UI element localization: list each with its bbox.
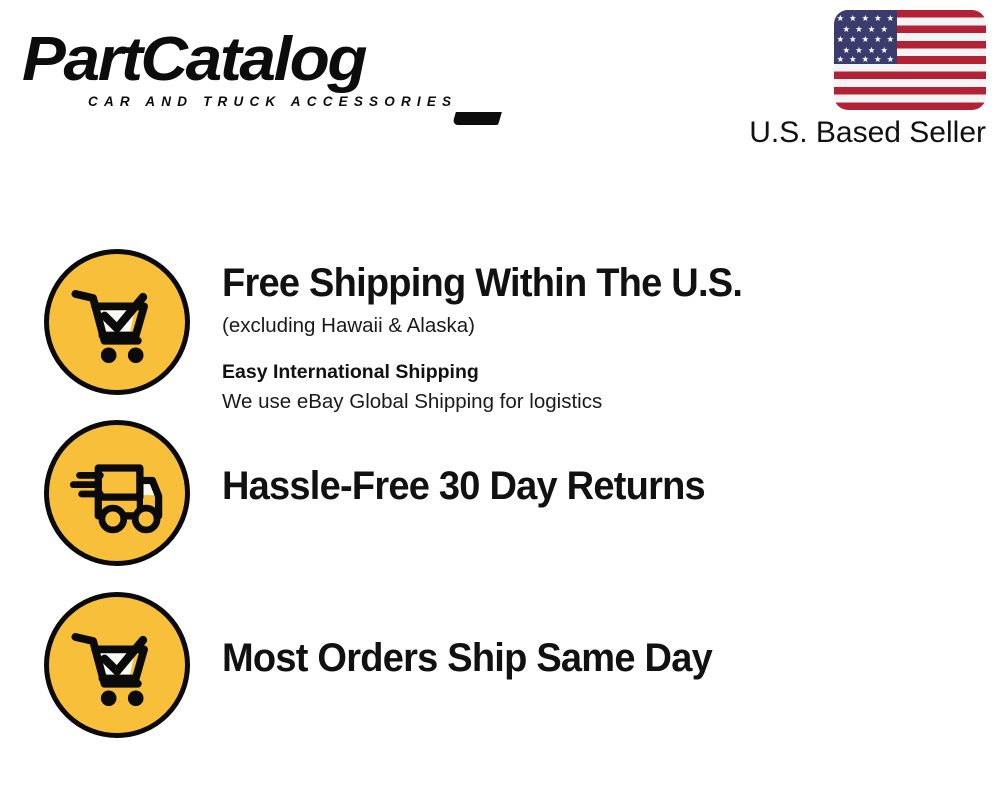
feature-text-block: Free Shipping Within The U.S. (excluding…	[222, 259, 984, 417]
page-header: PartCatalog CAR AND TRUCK ACCESSORIES ★★…	[0, 0, 1000, 170]
feature-title: Most Orders Ship Same Day	[222, 634, 946, 682]
feature-text-block: Hassle-Free 30 Day Returns	[222, 462, 984, 510]
feature-subtitle: We use eBay Global Shipping for logistic…	[222, 387, 984, 417]
us-based-seller-label: U.S. Based Seller	[749, 116, 986, 150]
feature-row: Free Shipping Within The U.S. (excluding…	[0, 249, 1000, 409]
flag-star-row: ★★★★★	[834, 55, 897, 64]
cart-check-icon	[44, 249, 190, 395]
feature-row: Hassle-Free 30 Day Returns	[0, 420, 1000, 570]
brand-logo-wordmark: PartCatalog	[22, 26, 365, 94]
cart-check-icon	[44, 592, 190, 738]
brand-logo[interactable]: PartCatalog CAR AND TRUCK ACCESSORIES	[22, 26, 492, 122]
feature-text-block: Most Orders Ship Same Day	[222, 634, 984, 682]
flag-canton: ★★★★★ ★★★★ ★★★★★ ★★★★ ★★★★★	[834, 10, 897, 64]
feature-title: Hassle-Free 30 Day Returns	[222, 462, 946, 510]
us-flag-icon: ★★★★★ ★★★★ ★★★★★ ★★★★ ★★★★★	[834, 10, 986, 110]
brand-logo-swoosh-icon	[452, 112, 502, 125]
feature-title: Free Shipping Within The U.S.	[222, 259, 946, 307]
feature-row: Most Orders Ship Same Day	[0, 592, 1000, 742]
feature-note: (excluding Hawaii & Alaska)	[222, 311, 984, 341]
flag-star-row: ★★★★	[840, 25, 891, 34]
flag-star-row: ★★★★	[840, 46, 891, 55]
delivery-truck-icon	[44, 420, 190, 566]
feature-subtitle-bold: Easy International Shipping	[222, 358, 984, 386]
flag-star-row: ★★★★★	[834, 35, 897, 44]
brand-logo-tagline: CAR AND TRUCK ACCESSORIES	[88, 94, 457, 109]
flag-star-row: ★★★★★	[834, 14, 897, 23]
